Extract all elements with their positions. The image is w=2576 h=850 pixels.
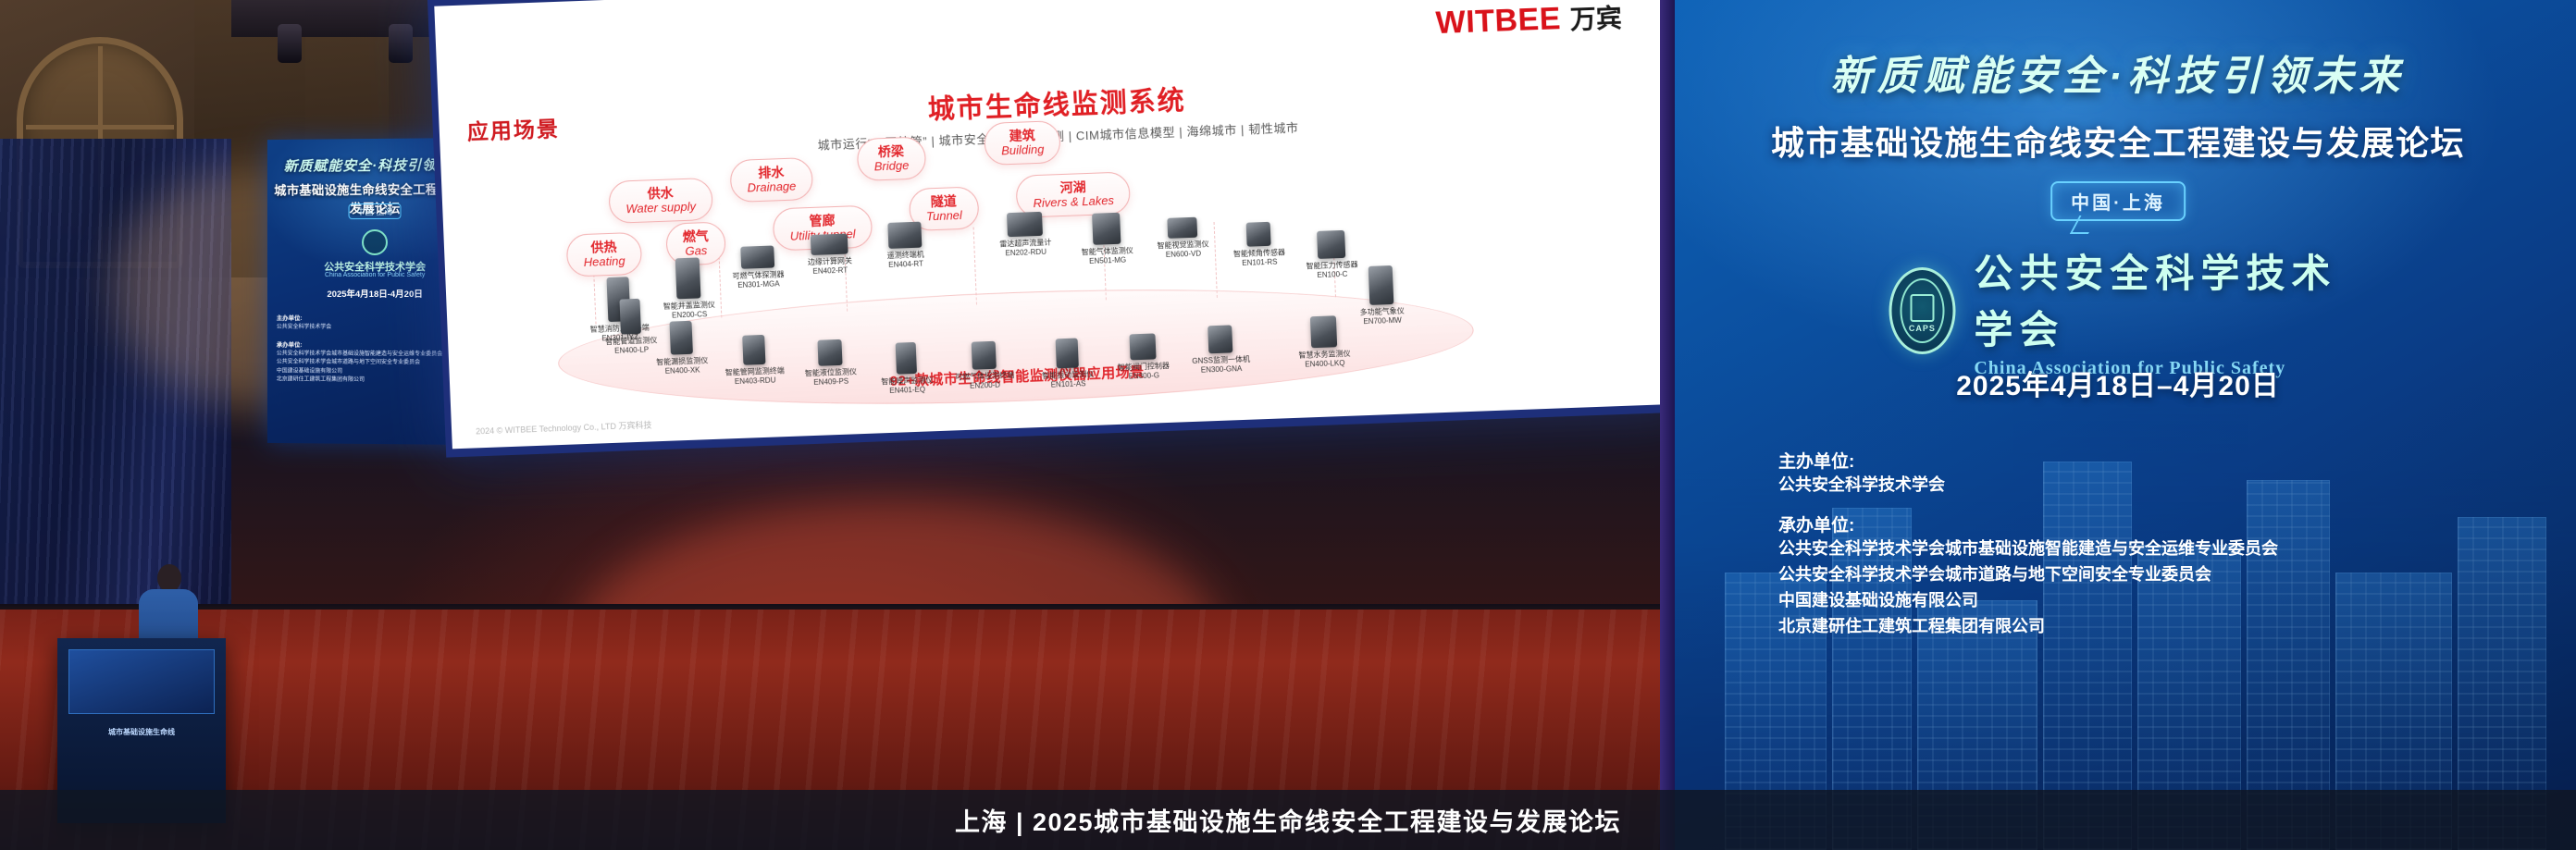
device-icon bbox=[619, 299, 641, 335]
device-model: EN101-RS bbox=[1242, 258, 1278, 267]
organizer-line: 公共安全科学技术学会城市基础设施智能建造与安全运维专业委员会 bbox=[1778, 536, 2539, 562]
device-model: EN400-LP bbox=[614, 345, 649, 354]
seal-emblem-icon bbox=[1910, 294, 1934, 322]
mini-host-line: 公共安全科学技术学会 bbox=[277, 325, 331, 330]
host-line: 公共安全科学技术学会 bbox=[1778, 473, 2539, 499]
device-icon bbox=[1056, 338, 1079, 368]
mini-banner-location-chip: 中国·上海 bbox=[349, 203, 402, 219]
witbee-logo: WITBEE 万宾 bbox=[1435, 0, 1623, 42]
stage-light bbox=[278, 24, 302, 63]
device-item: 可燃气体探测终端EN200-D bbox=[941, 340, 1028, 391]
device-item: 智能管道监测仪EN400-LP bbox=[587, 298, 674, 356]
mini-host-head: 主办单位: bbox=[277, 315, 303, 322]
organizer-line: 中国建设基础设施有限公司 bbox=[1778, 588, 2539, 614]
device-icon bbox=[887, 222, 922, 249]
podium-logo-text: 城市基础设施生命线 bbox=[57, 727, 226, 737]
caps-seal-icon bbox=[362, 229, 388, 255]
device-model: EN402-RT bbox=[812, 266, 848, 276]
screenshot-root: 新质赋能安全·科技引领未来 城市基础设施生命线安全工程建设与发展论坛 中国·上海… bbox=[0, 0, 2576, 850]
speaker-head bbox=[157, 564, 181, 592]
main-led-banner: 新质赋能安全·科技引领未来 城市基础设施生命线安全工程建设与发展论坛 中国·上海… bbox=[1660, 0, 2576, 850]
screen-frame: WITBEE 万宾 应用场景 城市生命线监测系统 城市运行“一网统管” | 城市… bbox=[427, 0, 1694, 458]
witbee-logo-cn: 万宾 bbox=[1569, 0, 1623, 37]
device-icon bbox=[1368, 265, 1394, 305]
device-model: EN401-EQ bbox=[889, 386, 925, 395]
device-icon bbox=[740, 245, 774, 268]
mini-organizer-head: 承办单位: bbox=[277, 342, 303, 349]
bottom-caption-bar: 上海 | 2025城市基础设施生命线安全工程建设与发展论坛 bbox=[0, 790, 2576, 850]
device-model: EN409-PS bbox=[813, 377, 848, 387]
device-icon bbox=[1129, 333, 1156, 360]
podium-screen bbox=[68, 649, 215, 714]
device-model: EN101-AS bbox=[1051, 379, 1086, 388]
mini-organizer-line: 公共安全科学技术学会城市道路与地下空间安全专业委员会 bbox=[277, 360, 420, 366]
device-icon bbox=[675, 257, 701, 299]
device-model: EN300-G bbox=[1128, 371, 1159, 380]
presentation-screen: WITBEE 万宾 应用场景 城市生命线监测系统 城市运行“一网统管” | 城市… bbox=[427, 0, 1695, 462]
witbee-logo-en: WITBEE bbox=[1435, 1, 1562, 42]
mini-organizer-line: 北京建研住工建筑工程集团有限公司 bbox=[277, 377, 365, 384]
organizer-line: 公共安全科学技术学会城市道路与地下空间安全专业委员会 bbox=[1778, 562, 2539, 588]
association-row: CAPS 公共安全科学技术学会 China Association for Pu… bbox=[1889, 242, 2347, 379]
scenario-pill: 供热Heating bbox=[566, 232, 643, 277]
device-icon bbox=[896, 342, 917, 375]
device-model: EN404-RT bbox=[888, 260, 923, 269]
slide-footer: 2024 © WITBEE Technology Co., LTD 万宾科技 bbox=[476, 418, 652, 437]
scenario-pill-en: Rivers & Lakes bbox=[1033, 194, 1114, 211]
device-icon bbox=[1317, 230, 1345, 259]
device-item: 遥测终端机EN404-RT bbox=[861, 221, 948, 270]
scenario-pill-en: Drainage bbox=[747, 179, 796, 194]
device-icon bbox=[1007, 212, 1043, 237]
scenario-pill-en: Water supply bbox=[625, 200, 696, 216]
device-model: EN200-D bbox=[970, 381, 1000, 390]
organizer-block: 主办单位: 公共安全科学技术学会 承办单位: 公共安全科学技术学会城市基础设施智… bbox=[1778, 435, 2539, 639]
led-calligraphy-slogan: 新质赋能安全·科技引领未来 bbox=[1660, 43, 2576, 102]
scenario-pill: 桥梁Bridge bbox=[857, 136, 926, 181]
caps-seal-icon: CAPS bbox=[1889, 267, 1956, 354]
device-model: EN600-VD bbox=[1166, 250, 1202, 259]
device-model: EN501-MG bbox=[1089, 256, 1126, 265]
scenario-pill-en: Gas bbox=[685, 244, 707, 258]
stage-light bbox=[389, 24, 413, 63]
scenario-pill: 建筑Building bbox=[984, 120, 1061, 166]
slide-canvas: WITBEE 万宾 应用场景 城市生命线监测系统 城市运行“一网统管” | 城市… bbox=[434, 0, 1688, 449]
device-item: 智能视觉监测仪EN600-VD bbox=[1139, 216, 1226, 260]
device-item: 智能振动监测仪EN101-AS bbox=[1024, 337, 1111, 389]
led-location-chip: 中国·上海 bbox=[2050, 181, 2186, 221]
host-head: 主办单位: bbox=[1778, 448, 2539, 473]
mini-organizer-line: 公共安全科学技术学会城市基础设施智能建造与安全运维专业委员会 bbox=[277, 351, 442, 358]
device-model: EN301-MGA bbox=[737, 279, 780, 289]
device-icon bbox=[817, 339, 842, 366]
device-item: 智能阀门控制器EN300-G bbox=[1099, 332, 1186, 381]
scenario-pill-en: Bridge bbox=[874, 159, 910, 174]
device-icon bbox=[811, 234, 848, 255]
scenario-pill: 供水Water supply bbox=[608, 178, 712, 224]
device-icon bbox=[972, 341, 997, 370]
led-event-date: 2025年4月18日–4月20日 bbox=[1660, 363, 2576, 403]
device-item: GNSS监测一体机EN300-GNA bbox=[1177, 324, 1264, 375]
device-icon bbox=[1310, 315, 1337, 348]
caption-text: 上海 | 2025城市基础设施生命线安全工程建设与发展论坛 bbox=[955, 802, 1621, 838]
scenario-pill: 排水Drainage bbox=[729, 157, 813, 203]
device-model: EN400-LKQ bbox=[1305, 359, 1344, 369]
device-icon bbox=[1092, 213, 1121, 245]
device-model: EN403-RDU bbox=[735, 376, 776, 386]
organizer-head: 承办单位: bbox=[1778, 511, 2539, 536]
device-item: 智能噪声监测仪EN401-EQ bbox=[863, 341, 950, 396]
scenario-pill-en: Heating bbox=[583, 254, 625, 269]
device-icon bbox=[742, 335, 765, 365]
device-item: 雷达超声流量计EN202-RDU bbox=[982, 211, 1069, 258]
scenario-pill-en: Building bbox=[1001, 142, 1045, 157]
device-model: EN200-CS bbox=[672, 310, 708, 319]
device-item: 智能液位监测仪EN409-PS bbox=[786, 339, 873, 388]
device-item: 智能气体监测仪EN501-MG bbox=[1063, 212, 1150, 266]
association-name-cn: 公共安全科学技术学会 bbox=[1974, 242, 2347, 355]
led-forum-title: 城市基础设施生命线安全工程建设与发展论坛 bbox=[1660, 117, 2576, 165]
device-icon bbox=[1207, 325, 1232, 353]
device-model: EN202-RDU bbox=[1005, 248, 1046, 258]
association-text: 公共安全科学技术学会 China Association for Public … bbox=[1974, 242, 2347, 379]
device-model: EN700-MW bbox=[1363, 316, 1402, 326]
organizer-line: 北京建研住工建筑工程集团有限公司 bbox=[1778, 614, 2539, 640]
device-item: 边缘计算网关EN402-RT bbox=[786, 233, 873, 277]
mini-organizer-line: 中国建设基础设施有限公司 bbox=[277, 368, 342, 374]
device-item: 智慧水务监测仪EN400-LKQ bbox=[1281, 314, 1368, 369]
device-model: EN400-XK bbox=[665, 365, 700, 375]
device-icon bbox=[1167, 217, 1197, 239]
seal-abbr: CAPS bbox=[1892, 324, 1953, 333]
device-icon bbox=[1246, 222, 1271, 247]
device-model: EN300-GNA bbox=[1201, 364, 1243, 375]
